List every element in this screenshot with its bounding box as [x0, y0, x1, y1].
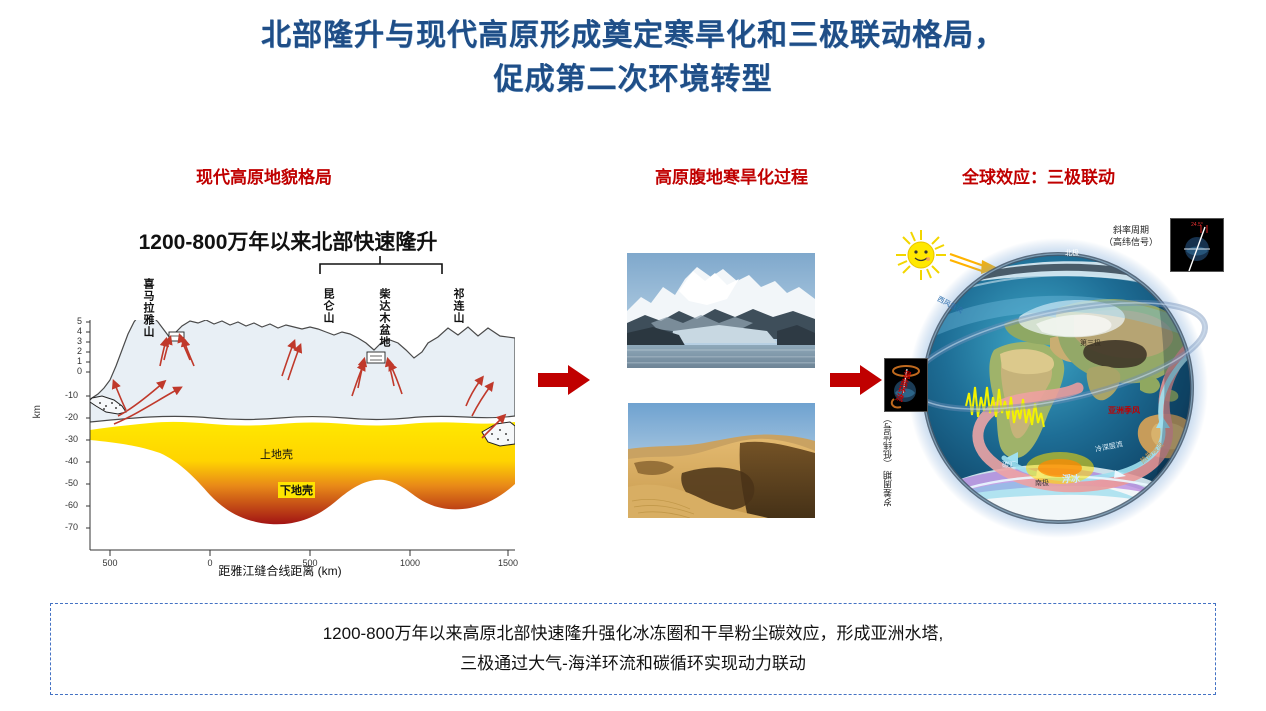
obliquity-inset-icon: 24.5°: [1170, 218, 1224, 272]
summary-caption-box: 1200-800万年以来高原北部快速隆升强化冰冻圈和干旱粉尘碳效应，形成亚洲水塔…: [50, 603, 1216, 695]
label-himalaya: 喜马拉雅山: [142, 278, 153, 338]
label-carbon-sink: 碳汇: [1002, 460, 1016, 470]
x-axis-label: 距雅江缝合线距离 (km): [120, 562, 440, 579]
label-upper-crust: 上地壳: [260, 446, 293, 462]
section-header-middle: 高原腹地寒旱化过程: [655, 163, 808, 188]
label-kunlun: 昆仑山: [322, 288, 333, 324]
cross-section-figure: [30, 210, 530, 590]
section-header-left: 现代高原地貌格局: [196, 163, 332, 188]
y-tick: 1: [60, 356, 82, 366]
slide-root: 北部隆升与现代高原形成奠定寒旱化和三极联动格局， 促成第二次环境转型 现代高原地…: [0, 0, 1266, 711]
label-lower-crust: 下地壳: [278, 482, 315, 498]
title-line-1: 北部隆升与现代高原形成奠定寒旱化和三极联动格局，: [0, 14, 1266, 58]
y-tick: 4: [60, 326, 82, 336]
obliquity-caption-line1: 斜率周期: [1092, 224, 1170, 236]
y-tick: 3: [60, 336, 82, 346]
label-qaidam: 柴达木盆地: [378, 288, 389, 348]
caption-line-1: 1200-800万年以来高原北部快速隆升强化冰冻圈和干旱粉尘碳效应，形成亚洲水塔…: [323, 619, 944, 649]
precession-caption-line2: （低纬信号）: [883, 414, 893, 468]
section-header-right: 全球效应：三极联动: [962, 163, 1115, 188]
precession-caption-line1: 岁差周期: [883, 471, 893, 507]
y-axis-label: km: [32, 405, 43, 418]
label-asian-monsoon: 亚洲季风: [1108, 406, 1140, 415]
x-tick: 1500: [488, 558, 528, 568]
earth-globe: [908, 238, 1208, 538]
photo-dune: [628, 403, 815, 518]
y-tick: -30: [56, 434, 78, 444]
global-effects-panel: 24.5° 斜率周期 （高纬信号） 岁差周期 （低纬信号） 北极 第三极 南极 …: [880, 210, 1260, 570]
precession-caption: 岁差周期 （低纬信号）: [882, 414, 894, 507]
y-tick: -20: [56, 412, 78, 422]
label-sea-ice: 浮冰: [1062, 472, 1080, 485]
label-third-pole: 第三极: [1080, 338, 1101, 348]
red-arrow-icon: [538, 364, 590, 396]
cross-section-panel: 1200-800万年以来北部快速隆升: [30, 210, 530, 590]
y-tick: -70: [56, 522, 78, 532]
obliquity-caption: 斜率周期 （高纬信号）: [1092, 224, 1170, 248]
y-tick: 0: [60, 366, 82, 376]
label-qilian: 祁连山: [452, 288, 463, 324]
y-tick: -10: [56, 390, 78, 400]
caption-line-2: 三极通过大气-海洋环流和碳循环实现动力联动: [460, 649, 806, 679]
y-tick: -50: [56, 478, 78, 488]
y-tick: -40: [56, 456, 78, 466]
title-line-2: 促成第二次环境转型: [0, 58, 1266, 102]
photo-glacier: [627, 253, 815, 368]
obliquity-caption-line2: （高纬信号）: [1092, 236, 1170, 248]
label-south-pole: 南极: [1035, 478, 1049, 488]
label-north-pole: 北极: [1065, 248, 1079, 258]
svg-text:24.5°: 24.5°: [1191, 222, 1203, 228]
y-tick: 2: [60, 346, 82, 356]
y-tick: -60: [56, 500, 78, 510]
y-tick: 5: [60, 316, 82, 326]
red-arrow-icon: [830, 364, 882, 396]
slide-title: 北部隆升与现代高原形成奠定寒旱化和三极联动格局， 促成第二次环境转型: [0, 14, 1266, 102]
